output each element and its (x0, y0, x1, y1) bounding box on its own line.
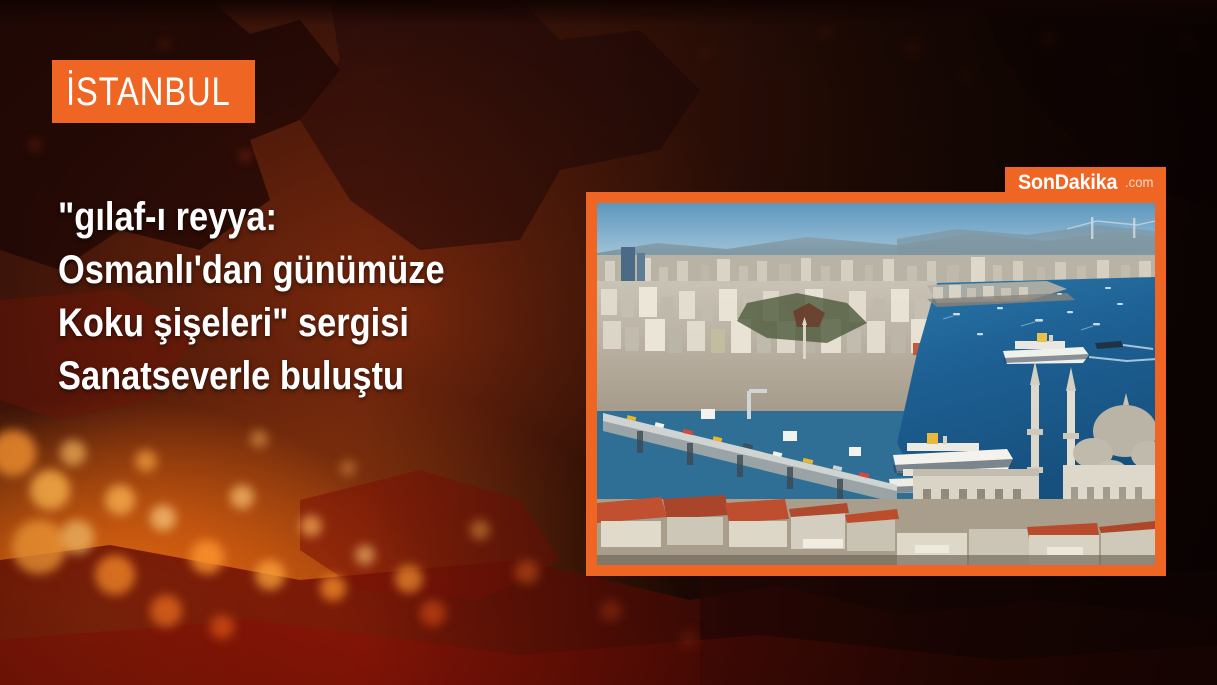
news-card: İSTANBUL "gılaf-ı reyya: Osmanlı'dan gün… (0, 0, 1217, 685)
headline-line-2: Osmanlı'dan günümüze (58, 244, 505, 297)
istanbul-photo (597, 203, 1155, 565)
background-top-shade (0, 0, 1217, 26)
headline-line-4: Sanatseverle buluştu (58, 350, 505, 403)
site-logo[interactable]: SonDakika .com (1005, 167, 1166, 197)
headline-line-1: "gılaf-ı reyya: (58, 191, 505, 244)
photo-frame (586, 192, 1166, 576)
headline: "gılaf-ı reyya: Osmanlı'dan günümüze Kok… (58, 191, 578, 403)
headline-line-3: Koku şişeleri" sergisi (58, 297, 505, 350)
site-logo-tld: .com (1125, 175, 1154, 189)
city-badge-label: İSTANBUL (66, 72, 231, 112)
site-logo-name: SonDakika (1018, 172, 1117, 193)
city-badge: İSTANBUL (52, 60, 255, 123)
